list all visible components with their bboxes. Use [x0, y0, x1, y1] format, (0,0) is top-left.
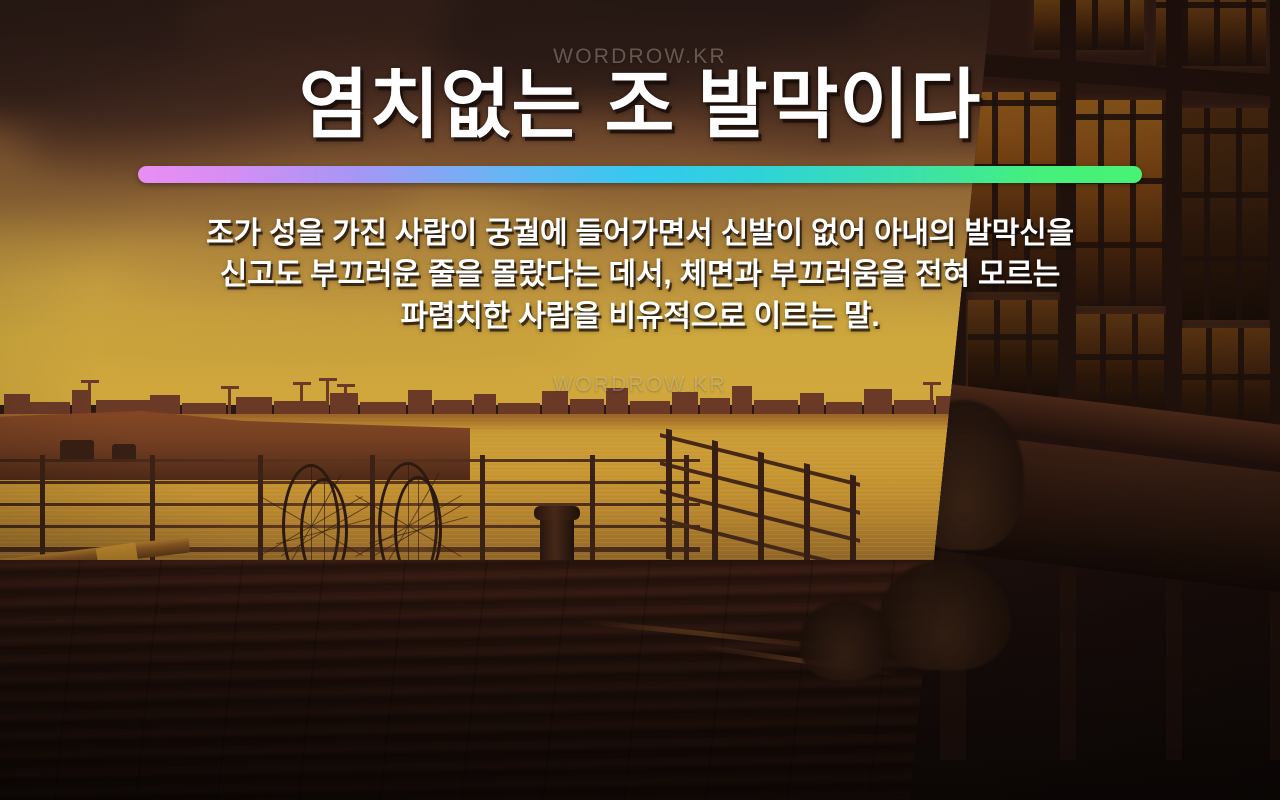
page-title: 염치없는 조 발막이다 — [0, 0, 1280, 144]
definition-line: 조가 성을 가진 사람이 궁궐에 들어가면서 신발이 없어 아내의 발막신을 — [135, 213, 1145, 254]
definition-line: 파렴치한 사람을 비유적으로 이르는 말. — [135, 296, 1145, 337]
gradient-divider — [138, 166, 1142, 183]
shrub — [800, 600, 890, 680]
deck-post-cap — [534, 506, 580, 520]
definition-line: 신고도 부끄러운 줄을 몰랐다는 데서, 체면과 부끄러움을 전혀 모르는 — [135, 254, 1145, 295]
text-overlay: 염치없는 조 발막이다 조가 성을 가진 사람이 궁궐에 들어가면서 신발이 없… — [0, 0, 1280, 337]
word-definition-card: WORDROW.KR WORDROW.KR 염치없는 조 발막이다 조가 성을 … — [0, 0, 1280, 800]
shrub — [880, 560, 1010, 670]
definition-text: 조가 성을 가진 사람이 궁궐에 들어가면서 신발이 없어 아내의 발막신을 신… — [135, 213, 1145, 337]
gradient-divider-wrapper — [138, 166, 1142, 183]
